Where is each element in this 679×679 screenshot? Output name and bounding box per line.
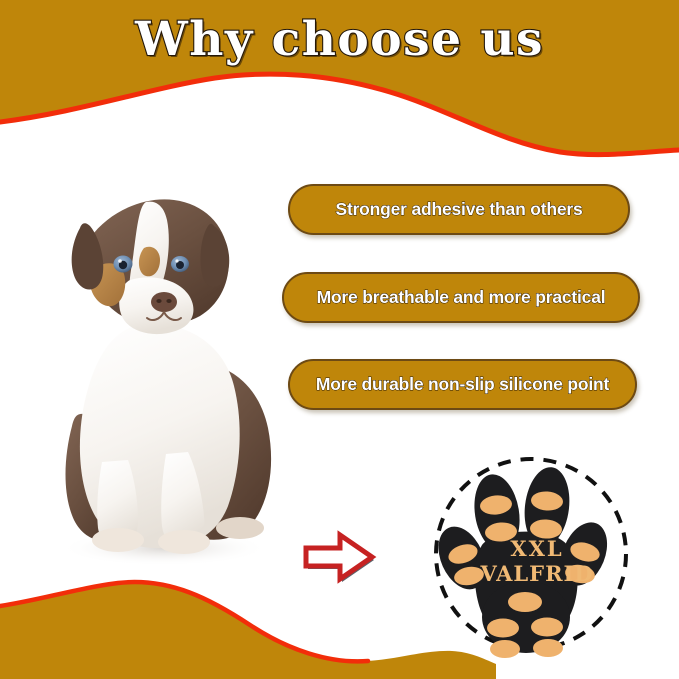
puppy-nostril-right: [166, 299, 171, 303]
puppy-eye-left-glint: [118, 259, 122, 263]
puppy-eye-right-glint: [175, 259, 178, 262]
right-arrow-icon: [302, 530, 380, 586]
feature-pill-3-label: More durable non-slip silicone point: [316, 376, 609, 394]
puppy-nostril-left: [156, 299, 161, 303]
puppy-paw-rear: [216, 517, 264, 539]
paw-pad-graphic: [430, 450, 632, 658]
footer-wave-shape: [0, 582, 496, 679]
puppy-paw-right: [158, 530, 210, 554]
header-wave-accent: [0, 74, 679, 155]
page-title: Why choose us: [0, 12, 679, 67]
product-swatch[interactable]: XXL VALFRID: [430, 450, 632, 658]
puppy-paw-left: [92, 528, 144, 552]
puppy-ear-right: [201, 224, 230, 287]
infographic-canvas: Why choose us Stronger adhesive than oth…: [0, 0, 679, 679]
feature-pill-3[interactable]: More durable non-slip silicone point: [288, 359, 637, 410]
feature-pill-2-label: More breathable and more practical: [317, 289, 606, 307]
puppy-nose: [151, 292, 177, 312]
arrow-shape: [306, 535, 372, 579]
feature-pill-2[interactable]: More breathable and more practical: [282, 272, 640, 323]
feature-pill-1[interactable]: Stronger adhesive than others: [288, 184, 630, 235]
feature-pill-1-label: Stronger adhesive than others: [335, 201, 582, 219]
footer-wave-accent: [0, 582, 368, 661]
puppy-photo: [28, 176, 296, 570]
